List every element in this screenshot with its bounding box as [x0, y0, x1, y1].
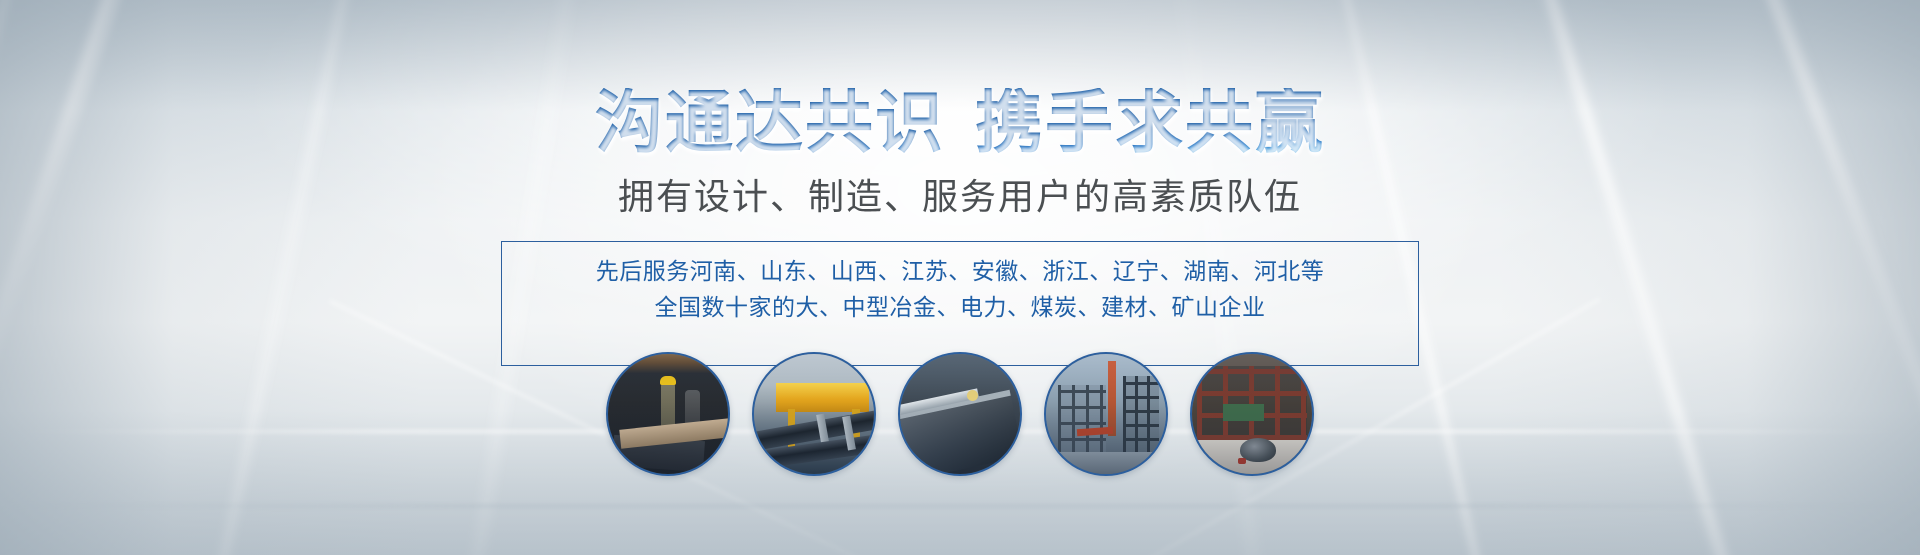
banner-content: 沟通达共识携手求共赢 拥有设计、制造、服务用户的高素质队伍 先后服务河南、山东、…: [0, 0, 1920, 555]
photo-tint-overlay: [1046, 354, 1166, 474]
photo-tint-overlay: [900, 354, 1020, 474]
banner-subtitle: 拥有设计、制造、服务用户的高素质队伍: [618, 175, 1302, 218]
workshop-racking-equipment-photo[interactable]: [1190, 352, 1314, 476]
project-photo-strip: [606, 352, 1314, 476]
service-scope-line-2: 全国数十家的大、中型冶金、电力、煤炭、建材、矿山企业: [655, 289, 1266, 326]
photo-tint-overlay: [1192, 354, 1312, 474]
photo-tint-overlay: [754, 354, 874, 474]
service-scope-line-1: 先后服务河南、山东、山西、江苏、安徽、浙江、辽宁、湖南、河北等: [596, 253, 1325, 290]
tank-lining-worker-photo[interactable]: [606, 352, 730, 476]
steel-plate-panel-photo[interactable]: [898, 352, 1022, 476]
headline-part-1: 沟通达共识: [595, 85, 945, 161]
headline-part-2: 携手求共赢: [975, 85, 1325, 161]
photo-tint-overlay: [608, 354, 728, 474]
service-scope-box: 先后服务河南、山东、山西、江苏、安徽、浙江、辽宁、湖南、河北等 全国数十家的大、…: [501, 241, 1419, 366]
banner-headline: 沟通达共识携手求共赢: [595, 88, 1325, 159]
plant-steel-structure-photo[interactable]: [1044, 352, 1168, 476]
promo-banner: 沟通达共识携手求共赢 拥有设计、制造、服务用户的高素质队伍 先后服务河南、山东、…: [0, 0, 1920, 555]
yellow-gantry-crane-pipes-photo[interactable]: [752, 352, 876, 476]
